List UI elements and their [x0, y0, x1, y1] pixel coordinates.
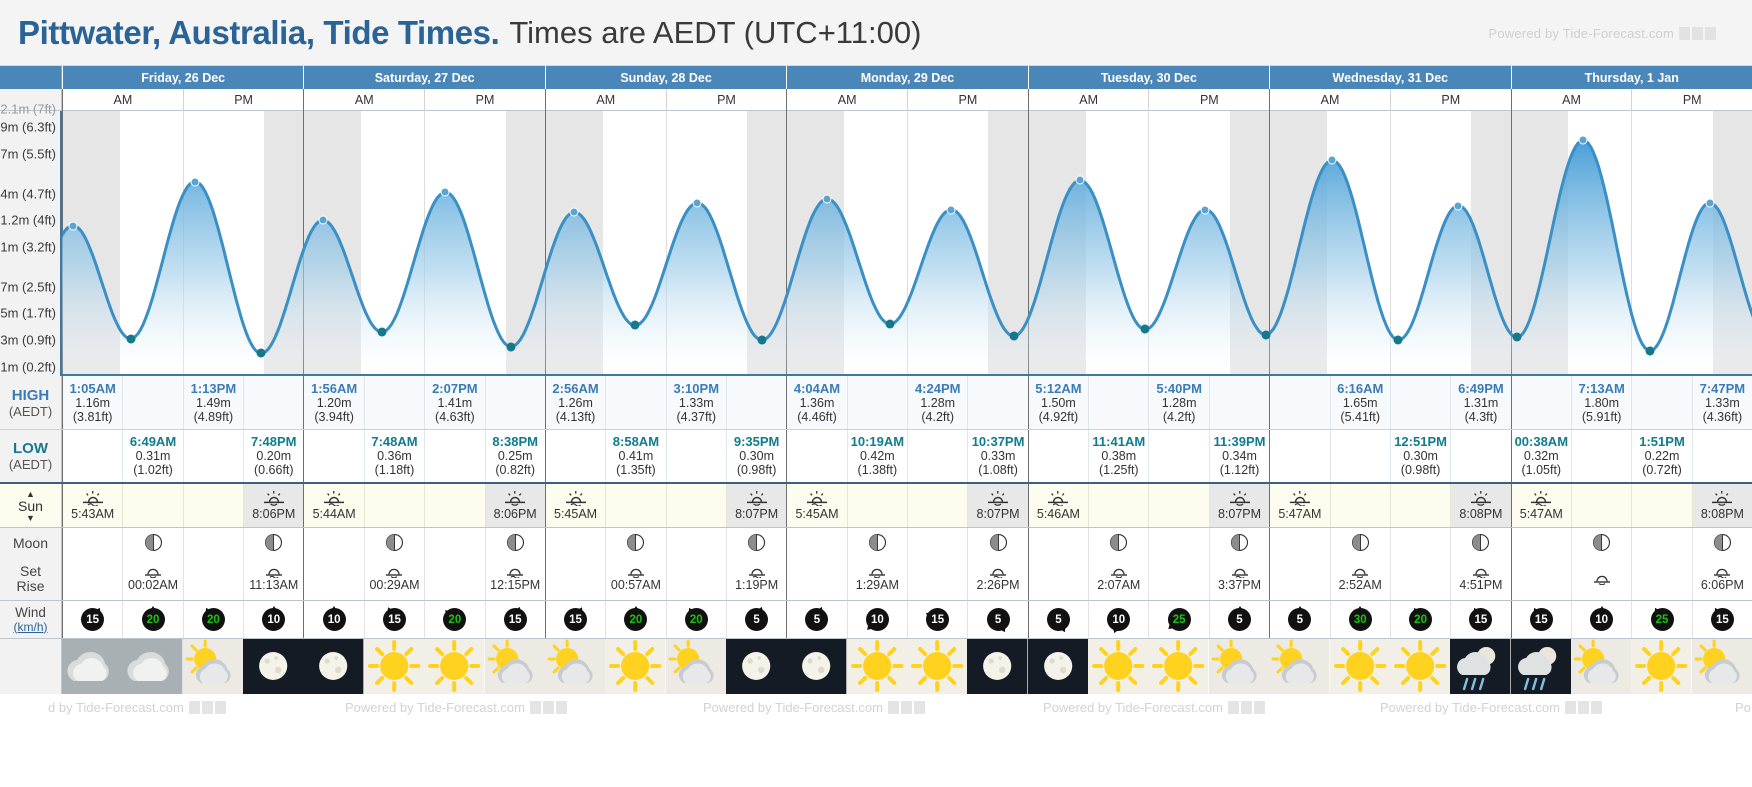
- footer-credit-1: d by Tide-Forecast.com: [48, 700, 226, 715]
- moonset-time-0: 11:13AM: [249, 578, 298, 592]
- footer-credit-4: Powered by Tide-Forecast.com: [1043, 700, 1265, 715]
- moon-phase-cell-2-am: [605, 528, 665, 557]
- sunrise-icon: [323, 490, 345, 506]
- day-header-2: Sunday, 28 Dec: [545, 66, 786, 89]
- sun-label-text: Sun: [18, 498, 43, 514]
- weather-cell-7: [485, 639, 545, 694]
- high-tide-cell-1-pm-1: [485, 376, 545, 429]
- moon-phase-icon: [1351, 533, 1370, 552]
- low-tide-cell-0-am-0: [62, 430, 122, 482]
- low-tide-time-10: 12:51PM: [1394, 435, 1447, 449]
- sunset-cell-6: 8:08PM: [1692, 484, 1752, 527]
- y-axis-tick-4: 1m (3.2ft): [0, 239, 56, 254]
- high-tide-feet-3: (4.63ft): [435, 410, 475, 424]
- sun-empty-cell-0-1-0: [183, 484, 243, 527]
- high-tide-8: 5:12AM1.50m(4.92ft): [1028, 376, 1088, 429]
- weather-label: [0, 639, 62, 694]
- high-tide-feet-9: (4.2ft): [1163, 410, 1196, 424]
- wind-cell-10: 20: [666, 601, 726, 638]
- moonrise-cell-0: 00:02AM: [122, 557, 182, 600]
- ampm-cell-3-pm: PM: [907, 89, 1028, 111]
- moonset-icon: [505, 565, 525, 578]
- low-tide-feet-4: (1.35ft): [616, 463, 656, 477]
- high-tide-5: 3:10PM1.33m(4.37ft): [666, 376, 726, 429]
- tide-point-high-0: [68, 221, 77, 230]
- high-tide-cell-6-am-0: [1511, 376, 1571, 429]
- wind-cell-21: 30: [1330, 601, 1390, 638]
- low-tide-cell-4-am-0: [1028, 430, 1088, 482]
- wind-speed-badge-15: 5: [987, 608, 1010, 631]
- sunset-time-1: 8:06PM: [494, 507, 537, 521]
- tide-point-high-20: [1328, 156, 1337, 165]
- moonset-icon: [264, 565, 284, 578]
- tide-point-high-24: [1579, 136, 1588, 145]
- low-tide-metres-0: 0.31m: [136, 449, 171, 463]
- footer-credit-2: Powered by Tide-Forecast.com: [345, 700, 567, 715]
- moon-setrise-empty-6-0-0: [1511, 557, 1571, 600]
- wind-speed-badge-11: 5: [745, 608, 768, 631]
- moon-phase-cell-4-pm: [1209, 528, 1269, 557]
- sunset-icon: [263, 490, 285, 506]
- wind-cell-4: 10: [303, 601, 363, 638]
- tide-point-low-23: [1512, 333, 1521, 342]
- low-tide-8: 11:41AM0.38m(1.25ft): [1088, 430, 1148, 482]
- low-tide-10: 12:51PM0.30m(0.98ft): [1390, 430, 1450, 482]
- sunrise-icon: [82, 490, 104, 506]
- low-tide-metres-5: 0.30m: [739, 449, 774, 463]
- tide-point-low-11: [757, 336, 766, 345]
- low-tide-feet-9: (1.12ft): [1220, 463, 1260, 477]
- moon-setrise-empty-2-1-0: [666, 557, 726, 600]
- moonset-time-2: 1:19PM: [735, 578, 778, 592]
- ampm-cell-0-am: AM: [62, 89, 183, 111]
- moon-setrise-empty-5-1-0: [1390, 557, 1450, 600]
- page-header: Pittwater, Australia, Tide Times. Times …: [0, 0, 1752, 66]
- moonset-icon: [1471, 565, 1491, 578]
- moonset-cell-0: 11:13AM: [243, 557, 303, 600]
- high-tide-time-4: 2:56AM: [552, 382, 598, 396]
- low-tide-cell-3-pm-0: [907, 430, 967, 482]
- moonset-cell-6: 6:06PM: [1692, 557, 1752, 600]
- moonrise-icon: [384, 565, 404, 578]
- moon-phase-icon: [506, 533, 525, 552]
- high-tide-cell-4-pm-1: [1209, 376, 1269, 429]
- sunset-cell-3: 8:07PM: [967, 484, 1027, 527]
- low-tide-cell-1-am-0: [303, 430, 363, 482]
- footer-credit-5: Powered by Tide-Forecast.com: [1380, 700, 1602, 715]
- weather-cell-3: [243, 639, 303, 694]
- ampm-cell-6-am: AM: [1511, 89, 1632, 111]
- low-tide-4: 8:58AM0.41m(1.35ft): [605, 430, 665, 482]
- sun-empty-cell-2-0-1: [605, 484, 665, 527]
- sunset-icon: [987, 490, 1009, 506]
- moonrise-time-4: 2:07AM: [1097, 578, 1140, 592]
- sun-empty-cell-6-1-0: [1631, 484, 1691, 527]
- sunny-icon: [1088, 639, 1148, 694]
- tide-point-low-21: [1394, 336, 1403, 345]
- moon-empty-cell-0-1-0: [183, 528, 243, 557]
- credit-logo-icon: [189, 701, 226, 714]
- high-tide-label: HIGH (AEDT): [0, 376, 62, 429]
- high-tide-7: 4:24PM1.28m(4.2ft): [907, 376, 967, 429]
- low-tide-feet-1: (0.66ft): [254, 463, 294, 477]
- sun-empty-cell-3-0-1: [847, 484, 907, 527]
- moonrise-time-2: 00:57AM: [611, 578, 661, 592]
- low-tide-cell-0-pm-0: [183, 430, 243, 482]
- footer-credit-1-text: d by Tide-Forecast.com: [48, 700, 184, 715]
- high-tide-metres-1: 1.49m: [196, 396, 231, 410]
- ampm-cell-1-am: AM: [303, 89, 424, 111]
- low-tide-time-5: 9:35PM: [734, 435, 780, 449]
- weather-cell-0: [62, 639, 122, 694]
- wind-label: Wind (km/h): [0, 601, 62, 638]
- sunrise-cell-4: 5:46AM: [1028, 484, 1088, 527]
- weather-cell-13: [847, 639, 907, 694]
- sunrise-cell-0: 5:43AM: [62, 484, 122, 527]
- tide-curve-fill: [62, 140, 1752, 376]
- tide-point-high-4: [318, 216, 327, 225]
- footer-credit-2-text: Powered by Tide-Forecast.com: [345, 700, 525, 715]
- high-tide-metres-5: 1.33m: [679, 396, 714, 410]
- moon-set-label: Set: [20, 564, 41, 579]
- moonrise-time-3: 1:29AM: [856, 578, 899, 592]
- sunset-cell-0: 8:06PM: [243, 484, 303, 527]
- high-tide-cell-0-pm-1: [243, 376, 303, 429]
- low-tide-feet-0: (1.02ft): [133, 463, 173, 477]
- moonset-time-6: 6:06PM: [1701, 578, 1744, 592]
- low-tide-11: 00:38AM0.32m(1.05ft): [1511, 430, 1571, 482]
- tide-point-low-1: [126, 334, 135, 343]
- footer-credit-3-text: Powered by Tide-Forecast.com: [703, 700, 883, 715]
- high-tide-time-13: 7:47PM: [1700, 382, 1746, 396]
- tide-point-high-26: [1705, 198, 1714, 207]
- moon-phase-icon: [989, 533, 1008, 552]
- high-tide-feet-2: (3.94ft): [314, 410, 354, 424]
- tide-point-high-12: [823, 194, 832, 203]
- high-tide-metres-12: 1.80m: [1584, 396, 1619, 410]
- tide-point-low-3: [257, 349, 266, 358]
- low-tide-metres-12: 0.22m: [1645, 449, 1680, 463]
- partly-cloudy-day-icon: [183, 639, 243, 694]
- wind-cell-22: 20: [1390, 601, 1450, 638]
- high-tide-feet-11: (4.3ft): [1465, 410, 1498, 424]
- weather-cell-14: [907, 639, 967, 694]
- sun-empty-cell-2-1-0: [666, 484, 726, 527]
- weather-cell-18: [1148, 639, 1208, 694]
- tide-point-low-19: [1261, 330, 1270, 339]
- sunrise-time-0: 5:43AM: [71, 507, 114, 521]
- high-tide-feet-1: (4.89ft): [194, 410, 234, 424]
- moon-setrise-label: Set Rise: [0, 557, 62, 600]
- sunrise-time-2: 5:45AM: [554, 507, 597, 521]
- low-tide-feet-11: (1.05ft): [1522, 463, 1562, 477]
- high-tide-time-0: 1:05AM: [70, 382, 116, 396]
- day-header-row: Friday, 26 DecSaturday, 27 DecSunday, 28…: [0, 66, 1752, 89]
- weather-cell-22: [1390, 639, 1450, 694]
- sun-up-arrow-icon: ▲: [26, 490, 35, 498]
- moon-setrise-empty-6-1-0: [1631, 557, 1691, 600]
- low-tide-feet-7: (1.08ft): [978, 463, 1018, 477]
- wind-cell-8: 15: [545, 601, 605, 638]
- sun-label: ▲ Sun ▼: [0, 484, 62, 527]
- sunset-time-2: 8:07PM: [735, 507, 778, 521]
- sunset-icon: [746, 490, 768, 506]
- low-tide-time-2: 7:48AM: [371, 435, 417, 449]
- moonrise-time-5: 2:52AM: [1339, 578, 1382, 592]
- footer-credit-6-text: Po: [1735, 700, 1751, 715]
- low-tide-feet-3: (0.82ft): [495, 463, 535, 477]
- high-tide-9: 5:40PM1.28m(4.2ft): [1148, 376, 1208, 429]
- day-header-3: Monday, 29 Dec: [786, 66, 1027, 89]
- sunset-icon: [1229, 490, 1251, 506]
- moon-phase-icon: [868, 533, 887, 552]
- wind-speed-badge-1: 20: [142, 608, 165, 631]
- moonset-cell-3: 2:26PM: [967, 557, 1027, 600]
- high-tide-cell-3-pm-1: [967, 376, 1027, 429]
- wind-cell-14: 15: [907, 601, 967, 638]
- moon-setrise-empty-0-1-0: [183, 557, 243, 600]
- low-tide-feet-10: (0.98ft): [1401, 463, 1441, 477]
- low-tide-metres-4: 0.41m: [619, 449, 654, 463]
- high-tide-6: 4:04AM1.36m(4.46ft): [786, 376, 846, 429]
- sunrise-cell-6: 5:47AM: [1511, 484, 1571, 527]
- low-tide-time-7: 10:37PM: [972, 435, 1025, 449]
- moonset-icon: [988, 565, 1008, 578]
- sunset-time-6: 8:08PM: [1701, 507, 1744, 521]
- low-tide-2: 7:48AM0.36m(1.18ft): [364, 430, 424, 482]
- low-tide-time-4: 8:58AM: [613, 435, 659, 449]
- moon-empty-cell-1-0-0: [303, 528, 363, 557]
- weather-cell-11: [726, 639, 786, 694]
- high-tide-12: 7:13AM1.80m(5.91ft): [1571, 376, 1631, 429]
- wind-unit-link[interactable]: (km/h): [14, 620, 48, 635]
- moonrise-time-1: 00:29AM: [369, 578, 419, 592]
- high-tide-feet-12: (5.91ft): [1582, 410, 1622, 424]
- ampm-cell-4-pm: PM: [1148, 89, 1269, 111]
- day-header-6: Thursday, 1 Jan: [1511, 66, 1752, 89]
- footer-credit-5-text: Powered by Tide-Forecast.com: [1380, 700, 1560, 715]
- weather-cell-6: [424, 639, 484, 694]
- tide-plot-area: [62, 111, 1752, 376]
- high-tide-label-text: HIGH: [12, 387, 50, 404]
- low-tide-cell-2-pm-0: [666, 430, 726, 482]
- day-header-1: Saturday, 27 Dec: [303, 66, 544, 89]
- moon-setrise-empty-4-0-0: [1028, 557, 1088, 600]
- sun-empty-cell-4-1-0: [1148, 484, 1208, 527]
- low-tide-0: 6:49AM0.31m(1.02ft): [122, 430, 182, 482]
- low-tide-time-12: 1:51PM: [1639, 435, 1685, 449]
- page-title: Pittwater, Australia, Tide Times.: [18, 14, 499, 52]
- low-tide-6: 10:19AM0.42m(1.38ft): [847, 430, 907, 482]
- y-axis-tick-2: 1.4m (4.7ft): [0, 186, 56, 201]
- moon-setrise-empty-2-0-0: [545, 557, 605, 600]
- sun-empty-cell-6-0-1: [1571, 484, 1631, 527]
- high-tide-0: 1:05AM1.16m(3.81ft): [62, 376, 122, 429]
- clear-night-icon: [726, 639, 786, 694]
- high-tide-3: 2:07PM1.41m(4.63ft): [424, 376, 484, 429]
- high-tide-11: 6:49PM1.31m(4.3ft): [1450, 376, 1510, 429]
- low-tide-cell-5-am-1: [1330, 430, 1390, 482]
- sunrise-icon: [565, 490, 587, 506]
- moon-empty-cell-4-0-0: [1028, 528, 1088, 557]
- high-tide-metres-0: 1.16m: [75, 396, 110, 410]
- high-tide-time-8: 5:12AM: [1035, 382, 1081, 396]
- wind-speed-badge-21: 30: [1349, 608, 1372, 631]
- wind-speed-badge-16: 5: [1047, 608, 1070, 631]
- wind-cell-20: 5: [1269, 601, 1329, 638]
- sun-empty-cell-0-0-1: [122, 484, 182, 527]
- low-tide-feet-8: (1.25ft): [1099, 463, 1139, 477]
- moonset-icon: [1230, 565, 1250, 578]
- wind-speed-badge-18: 25: [1168, 608, 1191, 631]
- wind-cell-19: 5: [1209, 601, 1269, 638]
- low-tide-cell-5-am-0: [1269, 430, 1329, 482]
- sunny-icon: [907, 639, 967, 694]
- sunset-time-3: 8:07PM: [977, 507, 1020, 521]
- sunrise-cell-1: 5:44AM: [303, 484, 363, 527]
- sunrise-time-4: 5:46AM: [1037, 507, 1080, 521]
- day-header-5: Wednesday, 31 Dec: [1269, 66, 1510, 89]
- high-tide-feet-6: (4.46ft): [797, 410, 837, 424]
- day-header-corner: [0, 66, 62, 89]
- moon-phase-cell-5-pm: [1450, 528, 1510, 557]
- tide-point-high-8: [570, 208, 579, 217]
- footer: d by Tide-Forecast.com Powered by Tide-F…: [0, 694, 1752, 720]
- tide-y-axis: 1.9m (6.3ft)1.7m (5.5ft)1.4m (4.7ft)1.2m…: [0, 111, 62, 376]
- day-header-0: Friday, 26 Dec: [62, 66, 303, 89]
- wind-cell-15: 5: [967, 601, 1027, 638]
- high-tide-metres-11: 1.31m: [1464, 396, 1499, 410]
- wind-speed-badge-27: 15: [1711, 608, 1734, 631]
- page-subtitle: Times are AEDT (UTC+11:00): [509, 15, 921, 51]
- moon-empty-cell-3-0-0: [786, 528, 846, 557]
- moon-empty-cell-1-1-0: [424, 528, 484, 557]
- ampm-cell-2-pm: PM: [666, 89, 787, 111]
- wind-cell-1: 20: [122, 601, 182, 638]
- wind-speed-badge-25: 10: [1590, 608, 1613, 631]
- tide-point-high-16: [1076, 176, 1085, 185]
- moon-phase-cell-6-pm: [1692, 528, 1752, 557]
- low-tide-metres-6: 0.42m: [860, 449, 895, 463]
- low-tide-feet-12: (0.72ft): [1642, 463, 1682, 477]
- moon-empty-cell-2-0-0: [545, 528, 605, 557]
- tide-point-high-14: [947, 205, 956, 214]
- low-tide-metres-9: 0.34m: [1222, 449, 1257, 463]
- sunrise-time-5: 5:47AM: [1278, 507, 1321, 521]
- moon-phase-cell-0-pm: [243, 528, 303, 557]
- ampm-header-row: AMPMAMPMAMPMAMPMAMPMAMPMAMPM: [0, 89, 1752, 111]
- moon-setrise-empty-3-1-0: [907, 557, 967, 600]
- wind-cell-9: 20: [605, 601, 665, 638]
- weather-cell-10: [666, 639, 726, 694]
- low-tide-time-9: 11:39PM: [1213, 435, 1265, 449]
- low-tide-metres-7: 0.33m: [981, 449, 1016, 463]
- moon-phase-cell-4-am: [1088, 528, 1148, 557]
- high-tide-feet-4: (4.13ft): [556, 410, 596, 424]
- moon-phase-icon: [1109, 533, 1128, 552]
- wind-cell-26: 25: [1631, 601, 1691, 638]
- low-tide-feet-6: (1.38ft): [858, 463, 898, 477]
- moonrise-icon: [867, 565, 887, 578]
- rain-night-icon: [1450, 639, 1510, 694]
- weather-icon-row: [0, 639, 1752, 694]
- tide-point-low-15: [1009, 332, 1018, 341]
- sunrise-icon: [1289, 490, 1311, 506]
- high-tide-cell-2-pm-1: [726, 376, 786, 429]
- cloudy-day-icon: [62, 639, 122, 694]
- low-tide-time-0: 6:49AM: [130, 435, 176, 449]
- low-tide-cell-1-pm-0: [424, 430, 484, 482]
- moon-phase-cell-2-pm: [726, 528, 786, 557]
- sunset-cell-1: 8:06PM: [485, 484, 545, 527]
- weather-cell-2: [183, 639, 243, 694]
- wind-cell-27: 15: [1692, 601, 1752, 638]
- high-tide-cell-3-am-1: [847, 376, 907, 429]
- sunset-cell-2: 8:07PM: [726, 484, 786, 527]
- wind-label-text: Wind: [15, 605, 46, 620]
- high-tide-time-7: 4:24PM: [915, 382, 961, 396]
- credit-logo-icon: [1228, 701, 1265, 714]
- tide-point-high-10: [693, 198, 702, 207]
- wind-speed-badge-5: 15: [383, 608, 406, 631]
- moonset-cell-2: 1:19PM: [726, 557, 786, 600]
- weather-cell-4: [303, 639, 363, 694]
- sunny-icon: [1330, 639, 1390, 694]
- sunrise-cell-3: 5:45AM: [786, 484, 846, 527]
- weather-cell-26: [1631, 639, 1691, 694]
- high-tide-feet-8: (4.92ft): [1039, 410, 1079, 424]
- moon-phase-cell-6-am: [1571, 528, 1631, 557]
- moon-setrise-empty-3-0-0: [786, 557, 846, 600]
- low-tide-9: 11:39PM0.34m(1.12ft): [1209, 430, 1269, 482]
- moonrise-time-0: 00:02AM: [128, 578, 178, 592]
- moonrise-cell-5: 2:52AM: [1330, 557, 1390, 600]
- sunny-icon: [1390, 639, 1450, 694]
- moon-phase-cell-3-am: [847, 528, 907, 557]
- moon-phase-icon: [264, 533, 283, 552]
- moon-empty-cell-6-1-0: [1631, 528, 1691, 557]
- credit-logo-icon: [530, 701, 567, 714]
- high-tide-metres-8: 1.50m: [1041, 396, 1076, 410]
- wind-cell-2: 20: [183, 601, 243, 638]
- high-tide-metres-9: 1.28m: [1162, 396, 1197, 410]
- low-tide-12: 1:51PM0.22m(0.72ft): [1631, 430, 1691, 482]
- y-axis-tick-3: 1.2m (4ft): [0, 213, 56, 228]
- day-header-4: Tuesday, 30 Dec: [1028, 66, 1269, 89]
- high-tide-cell-6-pm-0: [1631, 376, 1691, 429]
- ampm-cell-5-am: AM: [1269, 89, 1390, 111]
- wind-cell-12: 5: [786, 601, 846, 638]
- high-tide-feet-13: (4.36ft): [1703, 410, 1743, 424]
- moonrise-cell-3: 1:29AM: [847, 557, 907, 600]
- wind-cell-24: 15: [1511, 601, 1571, 638]
- tide-point-low-17: [1141, 325, 1150, 334]
- clear-night-icon: [303, 639, 363, 694]
- tide-point-low-7: [506, 342, 515, 351]
- moon-phase-icon: [747, 533, 766, 552]
- wind-cell-13: 10: [847, 601, 907, 638]
- sunny-icon: [847, 639, 907, 694]
- sunrise-time-1: 5:44AM: [313, 507, 356, 521]
- tide-curve: [62, 111, 1752, 376]
- high-tide-metres-13: 1.33m: [1705, 396, 1740, 410]
- low-tide-metres-2: 0.36m: [377, 449, 412, 463]
- moon-phase-cell-1-am: [364, 528, 424, 557]
- moonrise-cell-4: 2:07AM: [1088, 557, 1148, 600]
- tide-point-high-6: [441, 188, 450, 197]
- partly-cloudy-day-icon: [1269, 639, 1329, 694]
- moonrise-icon: [1592, 572, 1612, 585]
